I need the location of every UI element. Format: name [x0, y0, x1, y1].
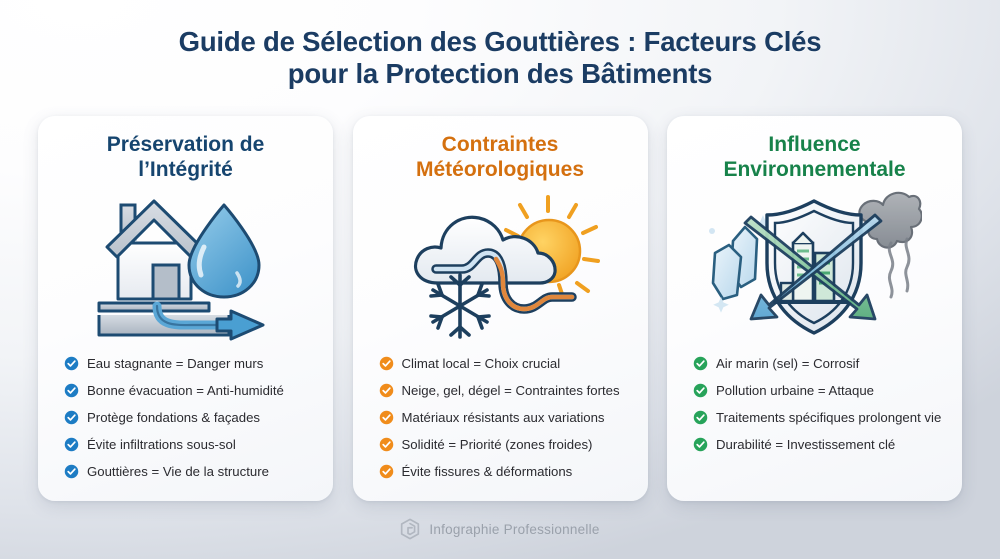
list-item: Durabilité = Investissement clé — [693, 437, 948, 453]
card-title-line-1: Contraintes — [442, 133, 559, 156]
check-circle-icon — [693, 383, 708, 398]
bullet-text: Gouttières = Vie de la structure — [87, 464, 269, 480]
list-item: Matériaux résistants aux variations — [379, 410, 634, 426]
footer: Infographie Professionnelle — [0, 518, 1000, 540]
card-title-line-1: Préservation de — [107, 133, 265, 156]
bullet-text: Climat local = Choix crucial — [402, 356, 561, 372]
bullet-list-influence: Air marin (sel) = Corrosif Pollution urb… — [681, 356, 948, 464]
list-item: Air marin (sel) = Corrosif — [693, 356, 948, 372]
list-item: Traitements spécifiques prolongent vie — [693, 410, 948, 426]
card-title-contraintes: Contraintes Météorologiques — [367, 132, 634, 182]
check-circle-icon — [693, 410, 708, 425]
shield-building-pollution-salt-icon — [681, 186, 948, 348]
card-preservation-integrite[interactable]: Préservation de l’Intégrité — [38, 116, 333, 501]
cloud-sun-snowflake-temperature-icon — [367, 186, 634, 348]
check-circle-icon — [379, 464, 394, 479]
bullet-text: Air marin (sel) = Corrosif — [716, 356, 859, 372]
check-circle-icon — [64, 437, 79, 452]
page-title: Guide de Sélection des Gouttières : Fact… — [0, 26, 1000, 90]
bullet-text: Solidité = Priorité (zones froides) — [402, 437, 593, 453]
bullet-text: Eau stagnante = Danger murs — [87, 356, 263, 372]
check-circle-icon — [693, 356, 708, 371]
bullet-list-contraintes: Climat local = Choix crucial Neige, gel,… — [367, 356, 634, 491]
check-circle-icon — [379, 437, 394, 452]
card-influence-environnementale[interactable]: Influence Environnementale — [667, 116, 962, 501]
check-circle-icon — [693, 437, 708, 452]
bullet-text: Neige, gel, dégel = Contraintes fortes — [402, 383, 620, 399]
bullet-list-preservation: Eau stagnante = Danger murs Bonne évacua… — [52, 356, 319, 491]
bullet-text: Bonne évacuation = Anti-humidité — [87, 383, 284, 399]
bullet-text: Pollution urbaine = Attaque — [716, 383, 874, 399]
list-item: Eau stagnante = Danger murs — [64, 356, 319, 372]
list-item: Protège fondations & façades — [64, 410, 319, 426]
list-item: Neige, gel, dégel = Contraintes fortes — [379, 383, 634, 399]
check-circle-icon — [64, 410, 79, 425]
bullet-text: Évite infiltrations sous-sol — [87, 437, 236, 453]
hexagon-cube-logo — [400, 518, 420, 540]
infographic-page: Guide de Sélection des Gouttières : Fact… — [0, 0, 1000, 559]
footer-text: Infographie Professionnelle — [429, 522, 599, 537]
card-title-preservation: Préservation de l’Intégrité — [52, 132, 319, 182]
card-title-line-2: Environnementale — [723, 158, 905, 181]
list-item: Gouttières = Vie de la structure — [64, 464, 319, 480]
card-title-influence: Influence Environnementale — [681, 132, 948, 182]
check-circle-icon — [64, 464, 79, 479]
bullet-text: Durabilité = Investissement clé — [716, 437, 895, 453]
page-title-line-1: Guide de Sélection des Gouttières : Fact… — [0, 26, 1000, 58]
check-circle-icon — [64, 356, 79, 371]
check-circle-icon — [379, 383, 394, 398]
card-contraintes-meteorologiques[interactable]: Contraintes Météorologiques — [353, 116, 648, 501]
list-item: Bonne évacuation = Anti-humidité — [64, 383, 319, 399]
check-circle-icon — [379, 410, 394, 425]
card-title-line-1: Influence — [768, 133, 860, 156]
card-title-line-2: Météorologiques — [416, 158, 584, 181]
bullet-text: Protège fondations & façades — [87, 410, 260, 426]
card-title-line-2: l’Intégrité — [138, 158, 233, 181]
cards-row: Préservation de l’Intégrité — [38, 116, 962, 501]
page-title-line-2: pour la Protection des Bâtiments — [0, 58, 1000, 90]
bullet-text: Matériaux résistants aux variations — [402, 410, 605, 426]
check-circle-icon — [64, 383, 79, 398]
bullet-text: Évite fissures & déformations — [402, 464, 573, 480]
list-item: Évite fissures & déformations — [379, 464, 634, 480]
bullet-text: Traitements spécifiques prolongent vie — [716, 410, 941, 426]
list-item: Climat local = Choix crucial — [379, 356, 634, 372]
list-item: Pollution urbaine = Attaque — [693, 383, 948, 399]
list-item: Évite infiltrations sous-sol — [64, 437, 319, 453]
house-water-drop-gutter-icon — [52, 186, 319, 348]
list-item: Solidité = Priorité (zones froides) — [379, 437, 634, 453]
check-circle-icon — [379, 356, 394, 371]
